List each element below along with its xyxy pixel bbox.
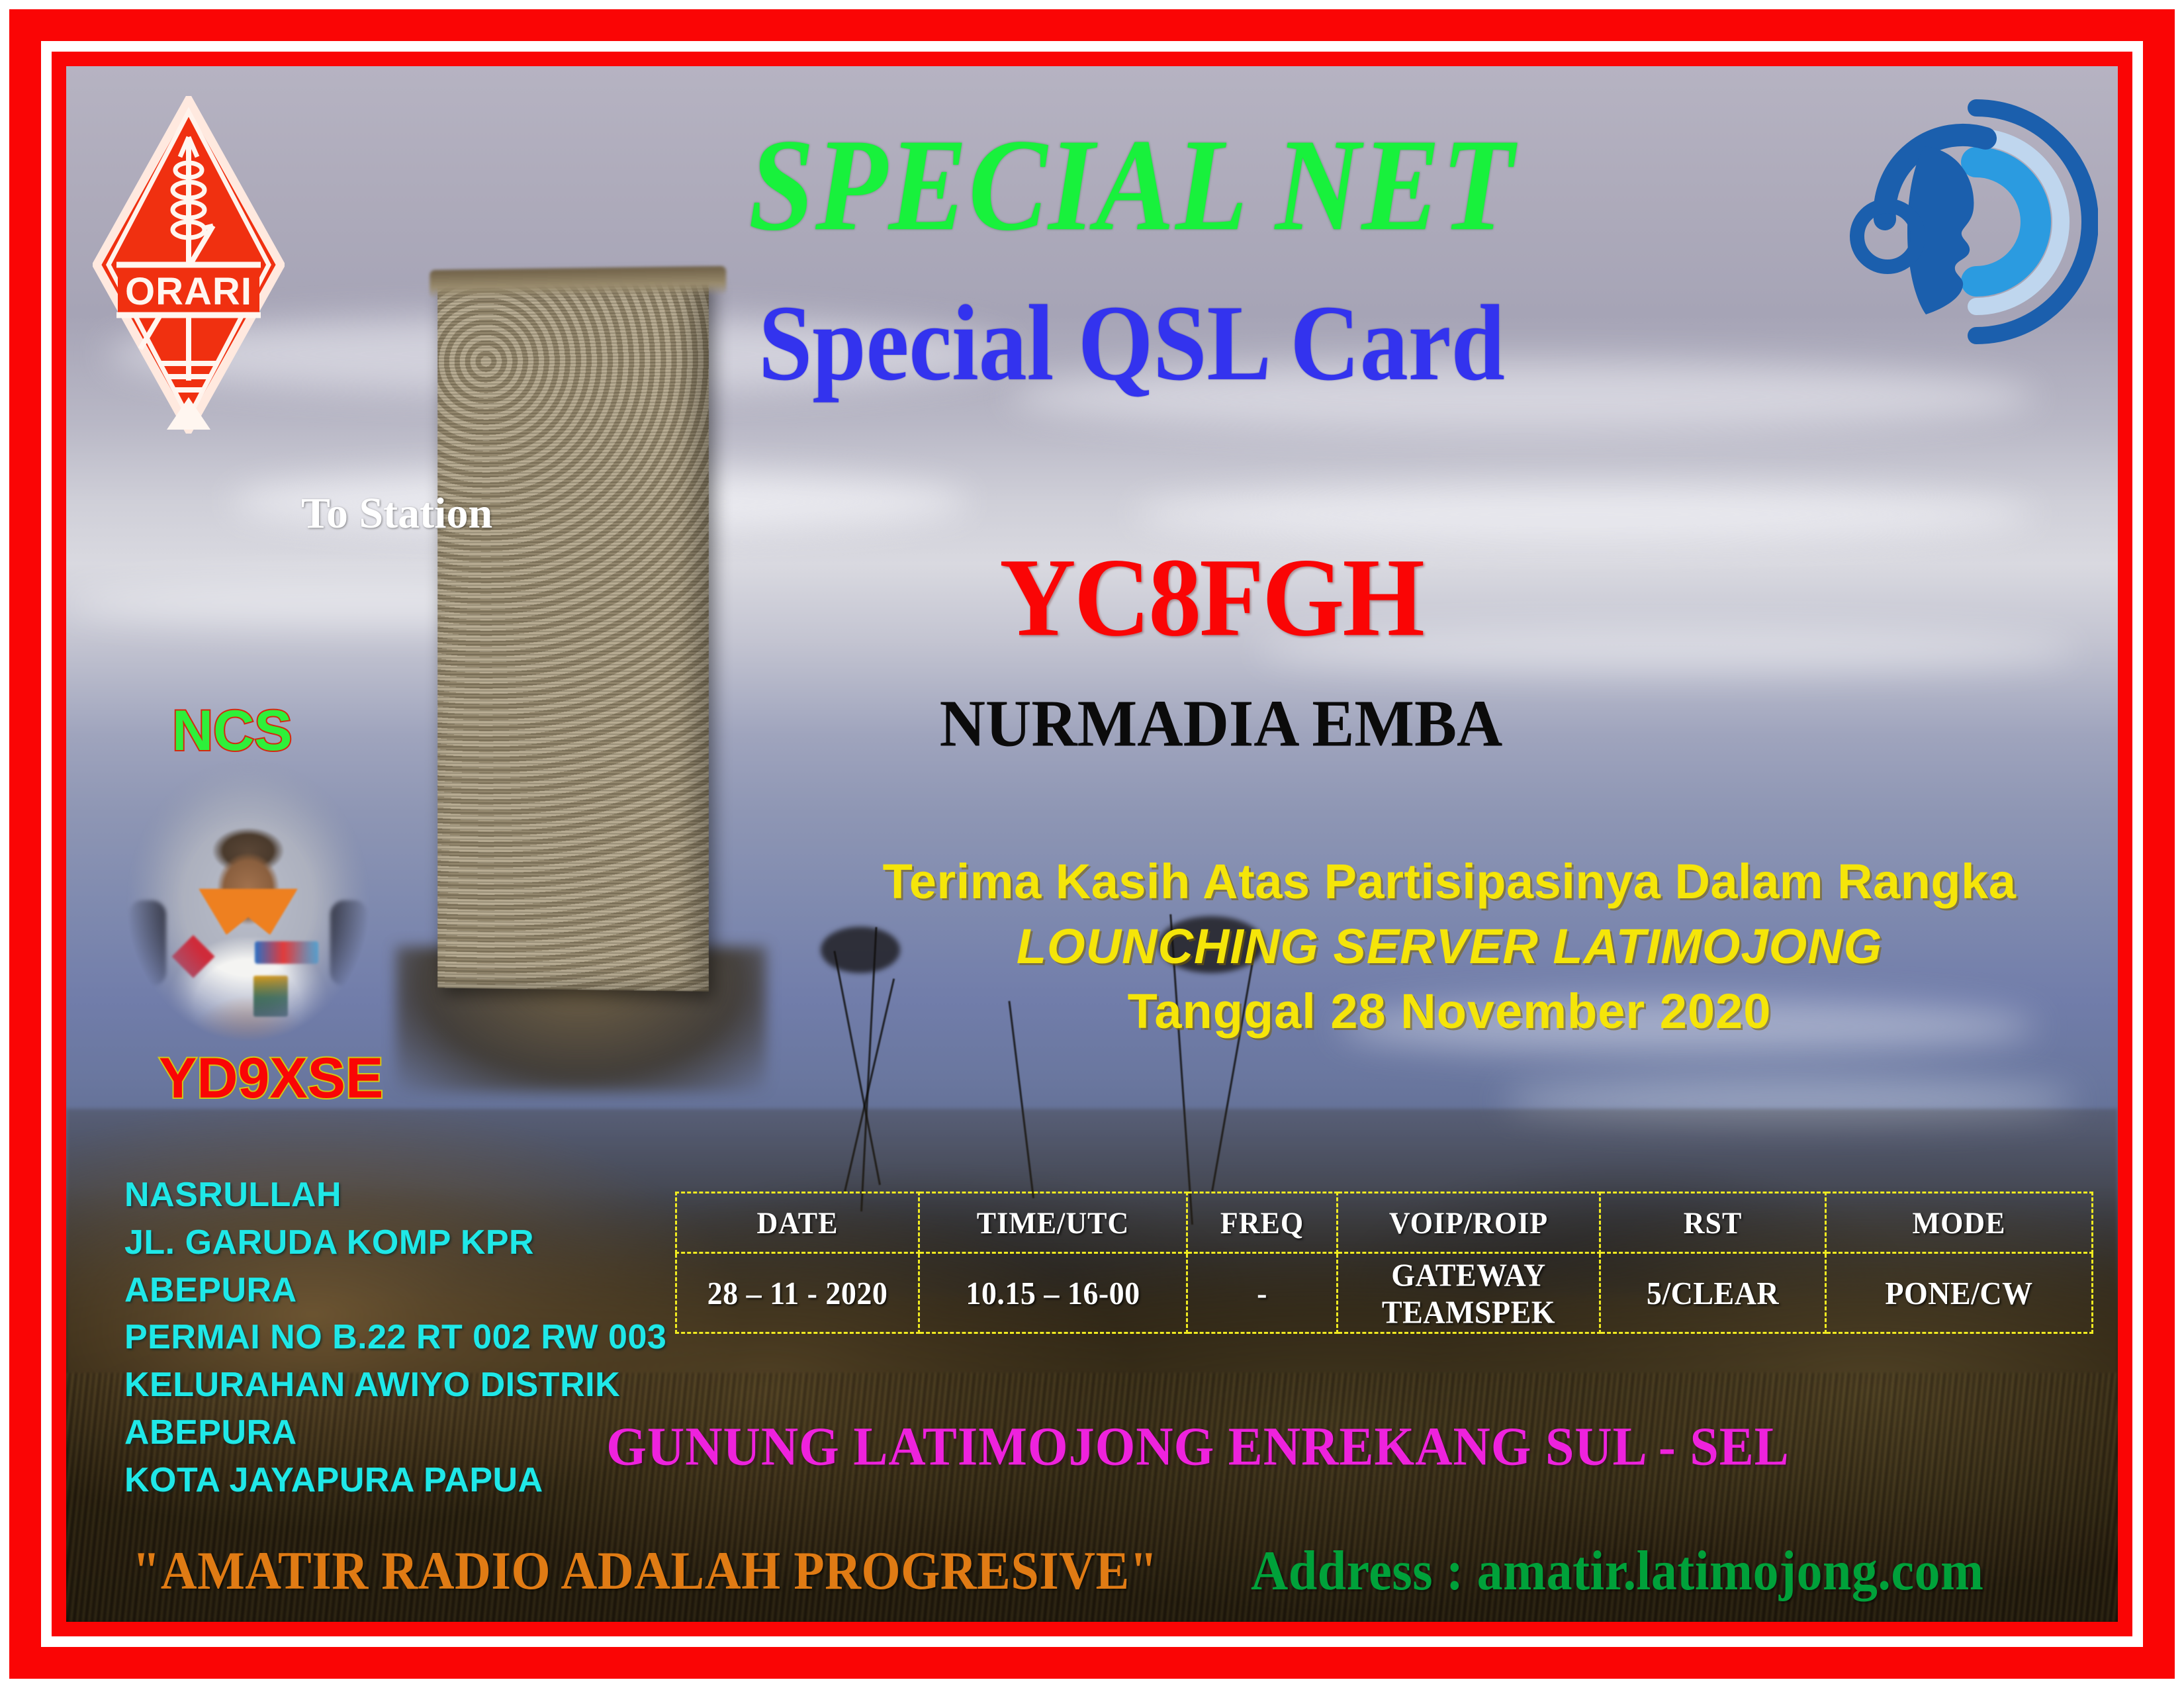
message-line-1: Terima Kasih Atas Partisipasinya Dalam R… (768, 857, 2131, 906)
column-header-time: TIME/UTC (919, 1191, 1187, 1254)
column-header-date: DATE (676, 1191, 919, 1254)
address-line: PERMAI NO B.22 RT 002 RW 003 (124, 1314, 666, 1362)
cell-rst: 5/CLEAR (1600, 1250, 1826, 1335)
cell-date: 28 – 11 - 2020 (676, 1250, 919, 1335)
column-header-mode: MODE (1826, 1191, 2093, 1254)
svg-text:ORARI: ORARI (125, 270, 252, 313)
page-subtitle: Special QSL Card (503, 289, 1760, 397)
cell-mode: PONE/CW (1826, 1250, 2093, 1335)
cell-voip: GATEWAY TEAMSPEK (1338, 1250, 1600, 1335)
net-headset-logo (1846, 89, 2098, 354)
cell-freq: - (1187, 1250, 1338, 1335)
address-line: ABEPURA (124, 1267, 666, 1315)
column-header-voip: VOIP/ROIP (1338, 1191, 1600, 1254)
table-row: 28 – 11 - 2020 10.15 – 16-00 - GATEWAY T… (676, 1253, 2093, 1333)
footer-web-address: Address : amatir.latimojong.com (1251, 1538, 1983, 1603)
location-text: GUNUNG LATIMOJONG ENREKANG SUL - SEL (569, 1415, 1827, 1477)
footer-slogan: "AMATIR RADIO ADALAH PROGRESIVE" (132, 1540, 1158, 1603)
operator-name: NURMADIA EMBA (807, 690, 1635, 757)
address-line: JL. GARUDA KOMP KPR (124, 1219, 666, 1267)
cell-time: 10.15 – 16-00 (919, 1250, 1187, 1335)
address-line: NASRULLAH (124, 1172, 666, 1219)
ncs-operator-photo (122, 755, 374, 1046)
to-station-label: To Station (301, 489, 492, 539)
message-line-2: LOUNCHING SERVER LATIMOJONG (768, 922, 2131, 971)
page-title: SPECIAL NET (503, 118, 1760, 250)
table-header-row: DATE TIME/UTC FREQ VOIP/ROIP RST MODE (676, 1193, 2093, 1253)
cell-voip-line-2: TEAMSPEK (1339, 1293, 1598, 1330)
thank-you-message: Terima Kasih Atas Partisipasinya Dalam R… (768, 857, 2131, 1036)
card-content: ORARI ORARI (66, 66, 2118, 1622)
message-line-3: Tanggal 28 November 2020 (768, 987, 2131, 1036)
column-header-rst: RST (1600, 1191, 1826, 1254)
qso-table: DATE TIME/UTC FREQ VOIP/ROIP RST MODE 28… (675, 1192, 2093, 1334)
address-line: KELURAHAN AWIYO DISTRIK (124, 1362, 666, 1409)
callsign-heading: YC8FGH (847, 541, 1575, 653)
column-header-freq: FREQ (1187, 1191, 1338, 1254)
cell-voip-line-1: GATEWAY (1339, 1256, 1598, 1293)
orari-logo: ORARI ORARI (93, 96, 285, 434)
qsl-card: ORARI ORARI (0, 0, 2184, 1688)
ncs-callsign: YD9XSE (159, 1046, 383, 1111)
